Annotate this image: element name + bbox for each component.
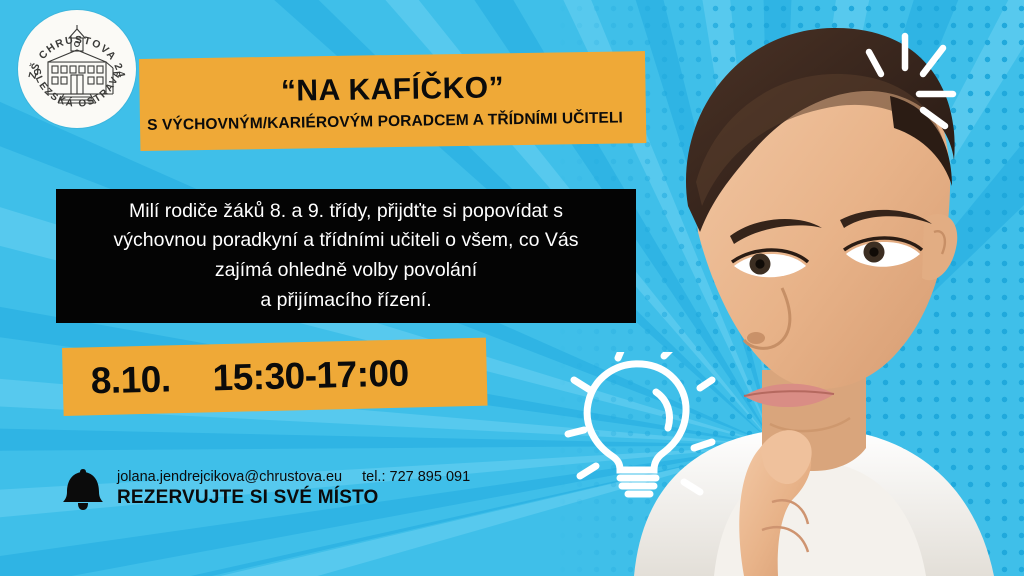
- contact-email[interactable]: jolana.jendrejcikova@chrustova.eu: [117, 469, 342, 485]
- contact-block: jolana.jendrejcikova@chrustova.eu tel.: …: [62, 466, 470, 512]
- contact-phone[interactable]: tel.: 727 895 091: [362, 469, 470, 485]
- event-date: 8.10.: [90, 358, 171, 402]
- contact-lines: jolana.jendrejcikova@chrustova.eu tel.: …: [117, 469, 470, 509]
- page-subtitle: S VÝCHOVNÝM/KARIÉROVÝM PORADCEM A TŘÍDNÍ…: [147, 109, 623, 134]
- lightbulb-icon: [560, 352, 720, 500]
- page-title: “NA KAFÍČKO”: [281, 71, 505, 109]
- school-logo: ZŠ CHRUSTOVA 24 SLEZSKÁ OSTRAVA: [18, 10, 136, 128]
- title-banner: “NA KAFÍČKO” S VÝCHOVNÝM/KARIÉROVÝM PORA…: [139, 51, 646, 151]
- bell-icon: [62, 466, 104, 512]
- reservation-cta: REZERVUJTE SI SVÉ MÍSTO: [117, 487, 470, 509]
- date-time-band: 8.10. 15:30-17:00: [62, 338, 488, 416]
- idea-sparkle-icon: [855, 22, 963, 132]
- event-time: 15:30-17:00: [212, 353, 409, 400]
- message-text: Milí rodiče žáků 8. a 9. třídy, přijdťte…: [100, 197, 593, 316]
- contact-details-row: jolana.jendrejcikova@chrustova.eu tel.: …: [117, 469, 470, 485]
- poster-canvas: ZŠ CHRUSTOVA 24 SLEZSKÁ OSTRAVA: [0, 0, 1024, 576]
- message-box: Milí rodiče žáků 8. a 9. třídy, přijdťte…: [56, 189, 636, 323]
- school-building-icon: ZŠ CHRUSTOVA 24 SLEZSKÁ OSTRAVA: [18, 10, 136, 128]
